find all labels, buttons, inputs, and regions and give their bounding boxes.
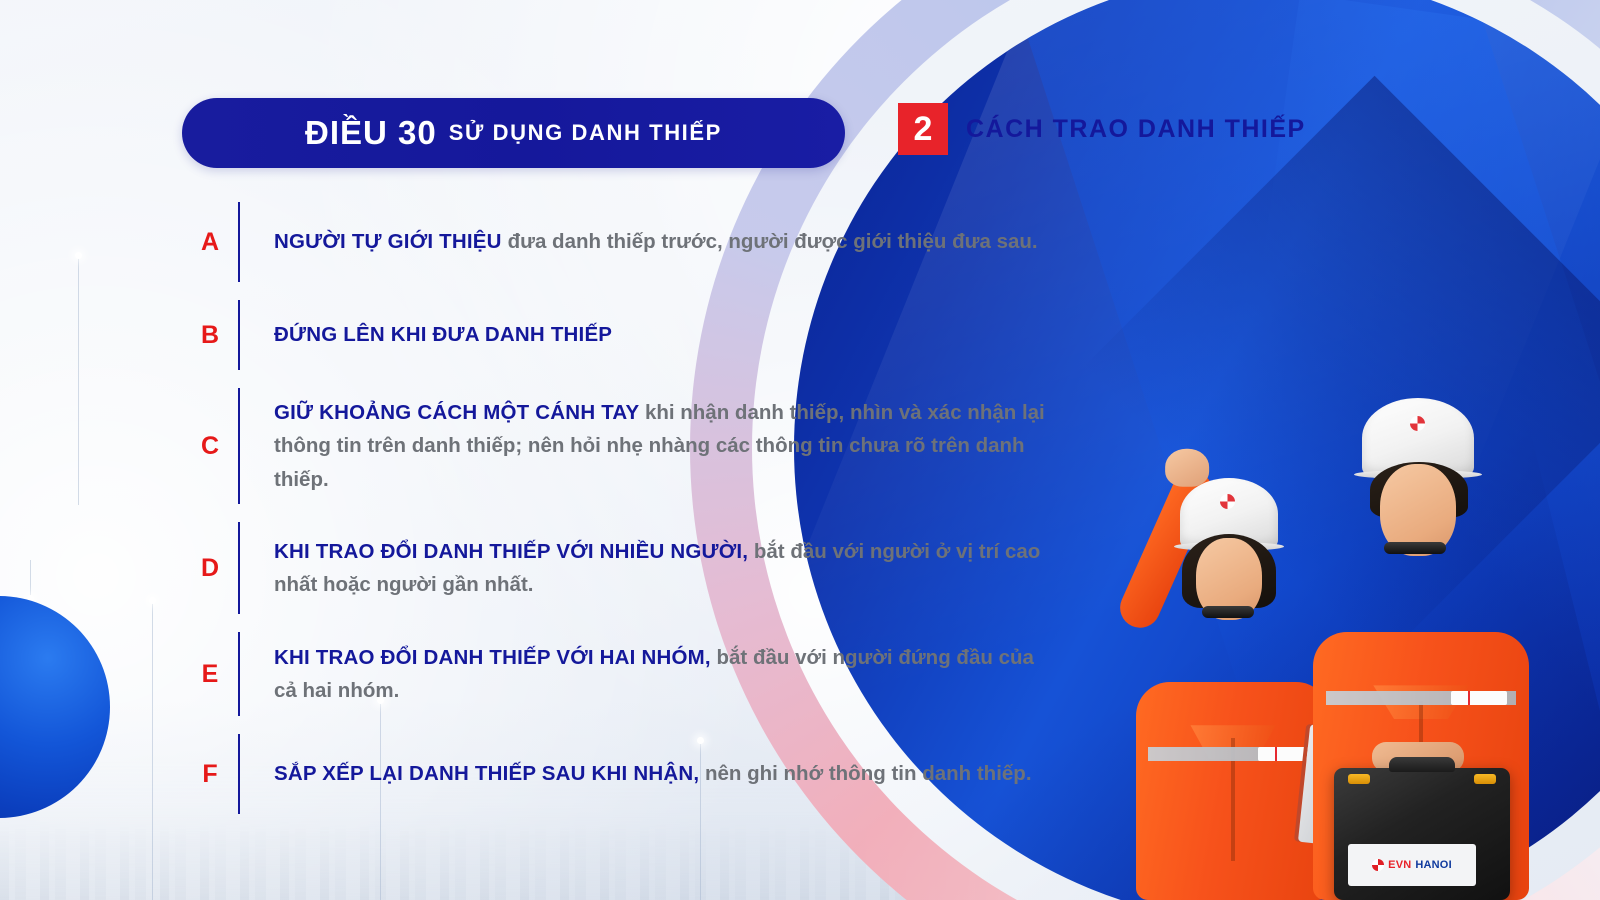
evn-workers-photo: EVNHANOI	[1022, 370, 1542, 900]
item-text: NGƯỜI TỰ GIỚI THIỆU đưa danh thiếp trước…	[240, 225, 1038, 258]
list-item: C GIỮ KHOẢNG CÁCH MỘT CÁNH TAY khi nhận …	[182, 382, 1062, 510]
item-highlight: NGƯỜI TỰ GIỚI THIỆU	[274, 230, 508, 253]
item-text: GIỮ KHOẢNG CÁCH MỘT CÁNH TAY khi nhận da…	[240, 396, 1062, 496]
item-body: đưa danh thiếp trước, người được giới th…	[508, 230, 1038, 253]
toolbox-latch-left	[1348, 774, 1370, 784]
section-heading: 2 CÁCH TRAO DANH THIẾP	[898, 103, 1306, 155]
item-body: nên ghi nhớ thông tin danh thiếp.	[699, 762, 1031, 785]
tool-case: EVNHANOI	[1334, 768, 1510, 900]
item-letter: A	[182, 228, 238, 257]
list-item: D KHI TRAO ĐỔI DANH THIẾP VỚI NHIỀU NGƯỜ…	[182, 516, 1062, 620]
evn-helmet-logo-female	[1220, 494, 1235, 509]
item-highlight: KHI TRAO ĐỔI DANH THIẾP VỚI HAI NHÓM,	[274, 646, 711, 669]
item-highlight: GIỮ KHOẢNG CÁCH MỘT CÁNH TAY	[274, 401, 645, 424]
guide-dot-3	[149, 597, 156, 604]
rules-list: A NGƯỜI TỰ GIỚI THIỆU đưa danh thiếp trư…	[182, 196, 1062, 826]
list-item: B ĐỨNG LÊN KHI ĐƯA DANH THIẾP	[182, 294, 1062, 376]
item-highlight: KHI TRAO ĐỔI DANH THIẾP VỚI NHIỀU NGƯỜI,	[274, 540, 748, 563]
toolbox-latch-right	[1474, 774, 1496, 784]
section-number-badge: 2	[898, 103, 948, 155]
evn-logo-icon	[1372, 859, 1384, 871]
evn-chest-badge-male	[1451, 691, 1507, 705]
guide-line-1	[78, 255, 79, 505]
item-highlight: SẮP XẾP LẠI DANH THIẾP SAU KHI NHẬN,	[274, 762, 699, 785]
item-letter: B	[182, 321, 238, 350]
worker-male: EVNHANOI	[1292, 392, 1550, 900]
toolbox-brand-label: EVNHANOI	[1348, 844, 1476, 886]
item-letter: C	[182, 432, 238, 461]
blue-sphere-decoration	[0, 596, 110, 818]
list-item: A NGƯỜI TỰ GIỚI THIỆU đưa danh thiếp trư…	[182, 196, 1062, 288]
chinstrap-male	[1384, 542, 1446, 554]
article-number-label: ĐIỀU 30	[305, 114, 437, 152]
chinstrap-female	[1202, 606, 1254, 618]
item-letter: F	[182, 760, 238, 789]
item-letter: E	[182, 660, 238, 689]
item-text: ĐỨNG LÊN KHI ĐƯA DANH THIẾP	[240, 318, 612, 351]
guide-dot-1	[75, 252, 82, 259]
guide-line-3	[152, 600, 153, 900]
item-text: KHI TRAO ĐỔI DANH THIẾP VỚI HAI NHÓM, bắ…	[240, 641, 1062, 707]
toolbox-brand-hanoi: HANOI	[1415, 859, 1451, 871]
item-letter: D	[182, 554, 238, 583]
section-title: CÁCH TRAO DANH THIẾP	[966, 115, 1306, 144]
article-title-pill: ĐIỀU 30 SỬ DỤNG DANH THIẾP	[182, 98, 845, 168]
list-item: E KHI TRAO ĐỔI DANH THIẾP VỚI HAI NHÓM, …	[182, 626, 1062, 722]
slide-root: EVNHANOI ĐIỀU 30 SỬ DỤNG DANH THIẾP 2 CÁ…	[0, 0, 1600, 900]
article-subject-label: SỬ DỤNG DANH THIẾP	[449, 120, 722, 146]
item-highlight: ĐỨNG LÊN KHI ĐƯA DANH THIẾP	[274, 323, 612, 346]
item-text: SẮP XẾP LẠI DANH THIẾP SAU KHI NHẬN, nên…	[240, 757, 1032, 790]
item-text: KHI TRAO ĐỔI DANH THIẾP VỚI NHIỀU NGƯỜI,…	[240, 535, 1062, 601]
evn-helmet-logo-male	[1410, 416, 1425, 431]
list-item: F SẮP XẾP LẠI DANH THIẾP SAU KHI NHẬN, n…	[182, 728, 1062, 820]
toolbox-brand-evn: EVN	[1388, 859, 1411, 871]
raised-hand	[1165, 449, 1209, 487]
